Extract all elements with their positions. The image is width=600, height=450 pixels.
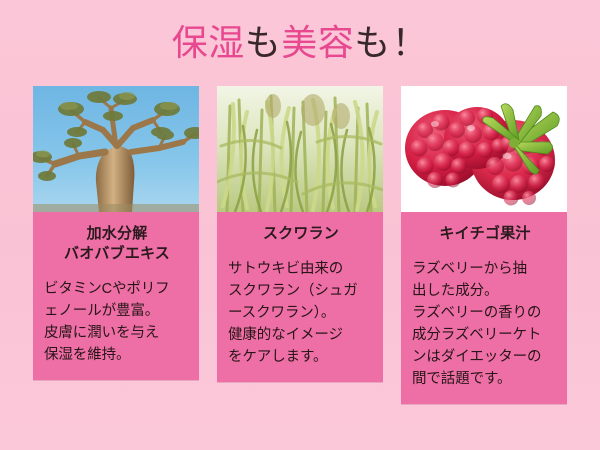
ingredient-card[interactable]: キイチゴ果汁 ラズベリーから抽 出した成分。 ラズベリーの香りの 成分ラズベリー…	[401, 86, 567, 404]
headline-segment-3: 美容	[281, 23, 354, 63]
ingredient-card-panel: キイチゴ果汁 ラズベリーから抽 出した成分。 ラズベリーの香りの 成分ラズベリー…	[401, 212, 567, 404]
poster-canvas: 保湿も美容も！	[0, 0, 600, 450]
baobab-tree-photo	[33, 86, 199, 212]
ingredient-card-title: キイチゴ果汁	[412, 224, 558, 244]
headline-segment-1: 保湿	[172, 23, 245, 63]
ingredient-card[interactable]: スクワラン サトウキビ由来の スクワラン（シュガ ースクワラン）。 健康的なイメ…	[217, 86, 383, 382]
page-title: 保湿も美容も！	[0, 14, 600, 72]
headline-segment-4: も	[354, 23, 391, 63]
ingredient-card-list: 加水分解 バオバブエキス ビタミンCやポリフ ェノールが豊富。 皮膚に潤いを与え…	[33, 86, 567, 404]
ingredient-card-title: スクワラン	[228, 224, 374, 244]
ingredient-card-panel: スクワラン サトウキビ由来の スクワラン（シュガ ースクワラン）。 健康的なイメ…	[217, 212, 383, 382]
ingredient-card-panel: 加水分解 バオバブエキス ビタミンCやポリフ ェノールが豊富。 皮膚に潤いを与え…	[33, 212, 199, 380]
ingredient-card-body: ビタミンCやポリフ ェノールが豊富。 皮膚に潤いを与え 保湿を維持。	[44, 278, 190, 366]
raspberry-fruit-photo	[401, 86, 567, 212]
sugarcane-field-photo	[217, 86, 383, 212]
ingredient-card-body: ラズベリーから抽 出した成分。 ラズベリーの香りの 成分ラズベリーケト ンはダイ…	[412, 258, 558, 390]
headline-segment-2: も	[245, 23, 282, 63]
ingredient-card-title: 加水分解 バオバブエキス	[44, 224, 190, 264]
headline-segment-5: ！	[391, 23, 429, 63]
ingredient-card-body: サトウキビ由来の スクワラン（シュガ ースクワラン）。 健康的なイメージ をケア…	[228, 258, 374, 368]
ingredient-card[interactable]: 加水分解 バオバブエキス ビタミンCやポリフ ェノールが豊富。 皮膚に潤いを与え…	[33, 86, 199, 380]
